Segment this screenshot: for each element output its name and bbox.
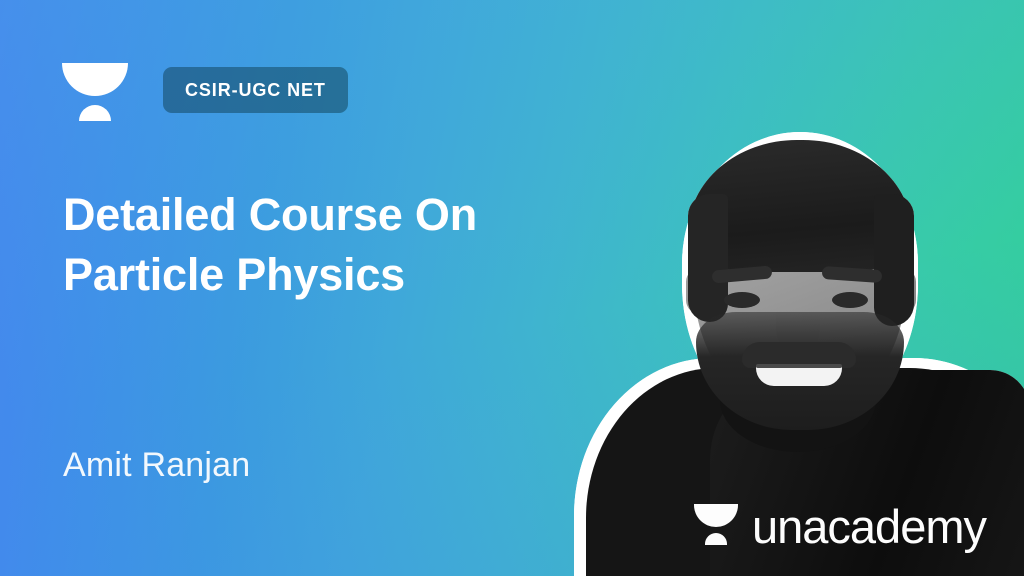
course-title-line-2: Particle Physics: [63, 245, 623, 305]
shirt-goblet-icon: [694, 502, 738, 550]
educator-name: Amit Ranjan: [63, 446, 250, 485]
shirt-logo-bowl-shape: [694, 504, 738, 527]
portrait-stage: unacademy: [560, 120, 1024, 576]
shirt-brand-wordmark: unacademy: [752, 503, 986, 550]
educator-portrait: unacademy: [560, 120, 1024, 576]
figure-hair-side-right: [874, 194, 914, 326]
course-title-line-1: Detailed Course On: [63, 185, 623, 245]
unacademy-goblet-icon: [62, 58, 128, 126]
course-thumbnail-card: CSIR-UGC NET Detailed Course On Particle…: [0, 0, 1024, 576]
figure-eye-right: [832, 292, 868, 308]
figure-eye-left: [724, 292, 760, 308]
logo-foot-shape: [79, 105, 111, 121]
shirt-logo-foot-shape: [705, 533, 727, 545]
logo-bowl-shape: [62, 63, 128, 96]
shirt-brand-logo: unacademy: [694, 502, 986, 550]
portrait-figure: unacademy: [560, 120, 1024, 576]
exam-category-badge-label: CSIR-UGC NET: [185, 80, 326, 101]
figure-hair-side-left: [688, 194, 728, 322]
figure-mouth-line: [756, 364, 842, 368]
exam-category-badge: CSIR-UGC NET: [163, 67, 348, 113]
course-title: Detailed Course On Particle Physics: [63, 185, 623, 305]
